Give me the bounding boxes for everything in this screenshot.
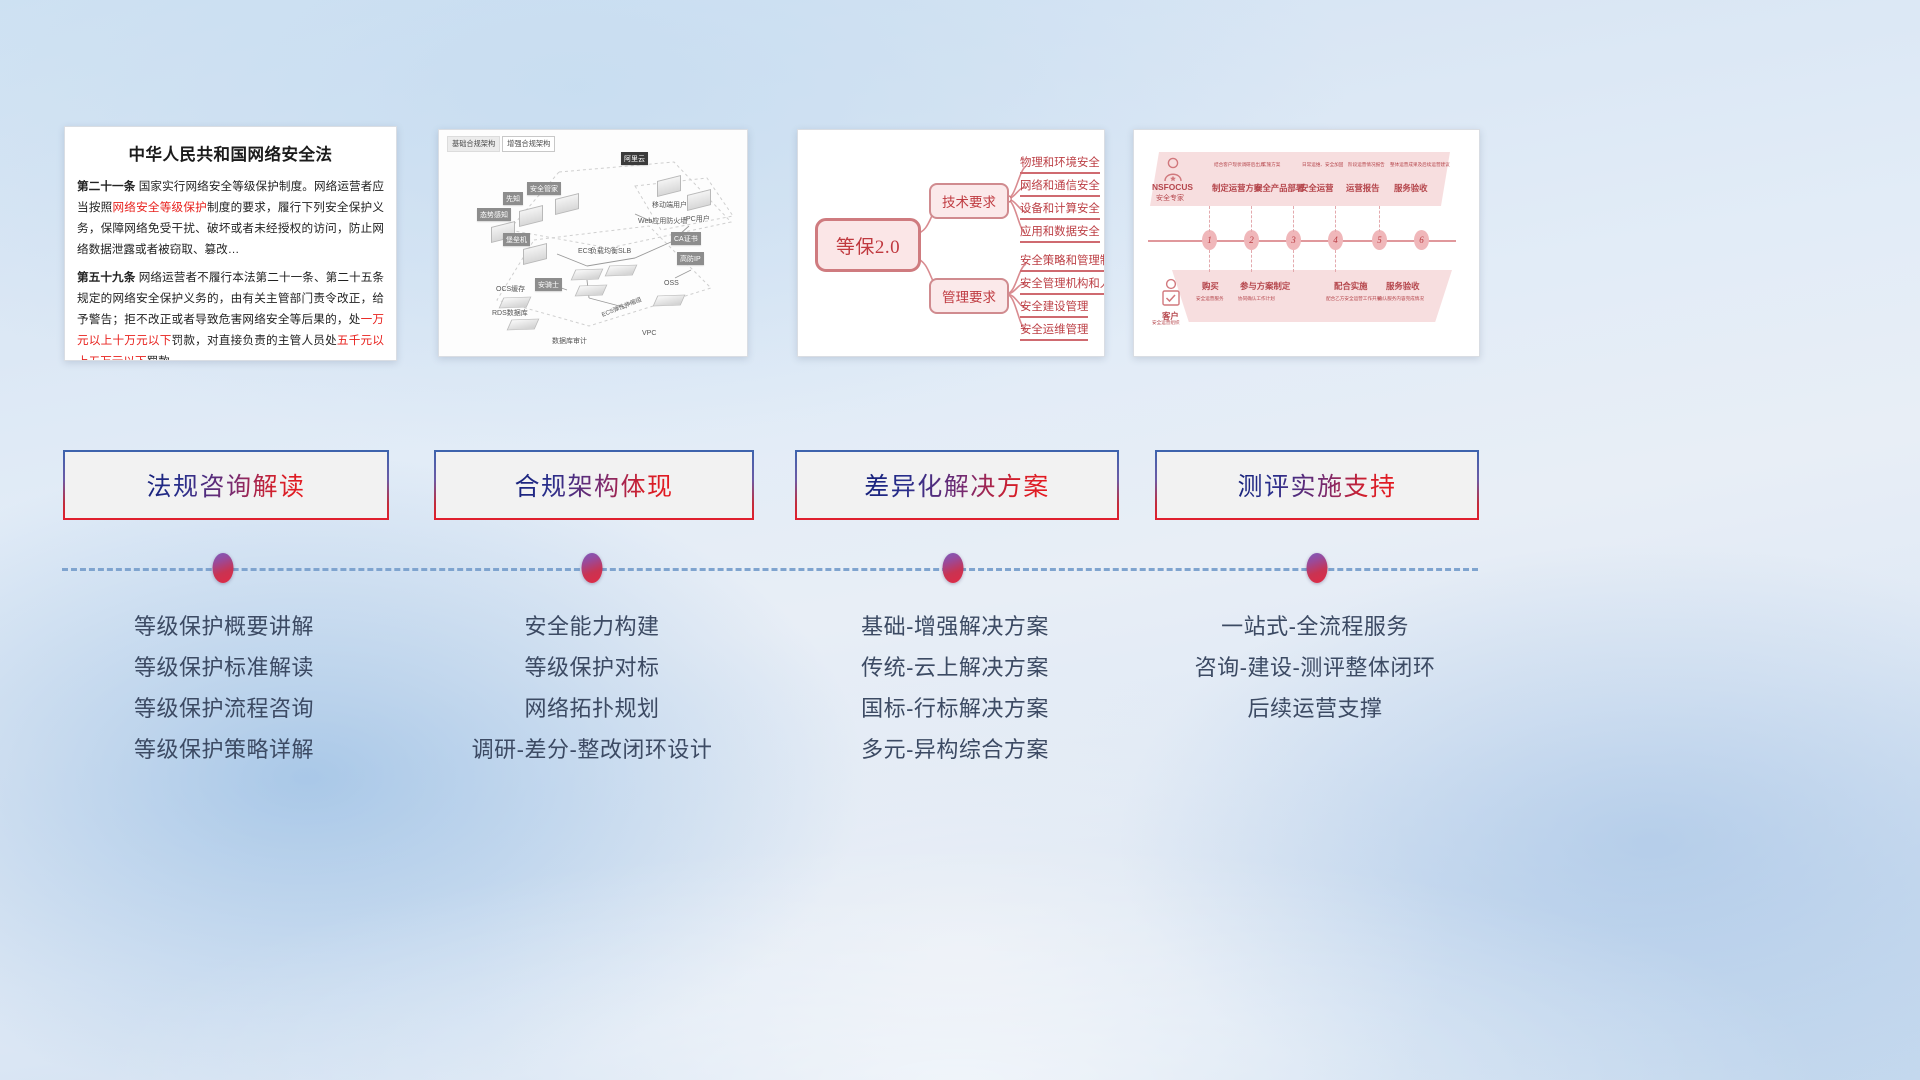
timeline <box>0 555 1920 585</box>
roadmap-top-sub-1: 结合客户现状调研后出具 <box>1214 162 1265 168</box>
roadmap-bottom-title-3: 配合实施 <box>1334 280 1368 292</box>
list-item: 等级保护概要讲解 <box>63 606 385 647</box>
slide-canvas: 中华人民共和国网络安全法 第二十一条 国家实行网络安全等级保护制度。网络运营者应… <box>0 0 1920 1080</box>
timeline-marker-4[interactable] <box>1307 553 1328 583</box>
node-label-anti-ddos-ip: 高防IP <box>677 252 704 265</box>
architecture-connectors <box>439 130 747 356</box>
section-list-4: 一站式-全流程服务 咨询-建设-测评整体闭环 后续运营支撑 <box>1155 606 1475 729</box>
roadmap-bottom-sub-3: 配合乙方安全运营工作开展 <box>1326 296 1381 302</box>
roadmap-top-title-2: 安全产品部署 <box>1254 182 1304 194</box>
thumbnail-cards-row: 中华人民共和国网络安全法 第二十一条 国家实行网络安全等级保护制度。网络运营者应… <box>0 126 1920 360</box>
list-item: 国标-行标解决方案 <box>795 688 1115 729</box>
law-article-number: 第五十九条 <box>77 271 135 284</box>
roadmap-top-title-5: 服务验收 <box>1394 182 1428 194</box>
node-label-db-audit: 数据库审计 <box>549 334 590 347</box>
list-item: 后续运营支撑 <box>1155 688 1475 729</box>
law-run: 罚款。 <box>147 355 182 361</box>
list-item: 等级保护标准解读 <box>63 647 385 688</box>
roadmap-top-title-4: 运营报告 <box>1346 182 1380 194</box>
list-item: 咨询-建设-测评整体闭环 <box>1155 647 1475 688</box>
roadmap-step-6: 6 <box>1414 230 1429 250</box>
roadmap-bottom-title-4: 服务验收 <box>1386 280 1420 292</box>
section-header-box-1[interactable]: 法规咨询解读 <box>63 450 389 520</box>
node-icon-ecs <box>571 269 604 281</box>
timeline-marker-2[interactable] <box>582 553 603 583</box>
section-header-box-4[interactable]: 测评实施支持 <box>1155 450 1479 520</box>
law-paragraph: 第五十九条 网络运营者不履行本法第二十一条、第二十五条规定的网络安全保护义务的，… <box>77 267 384 361</box>
section-header-label-3: 差异化解决方案 <box>864 467 1050 503</box>
roadmap-vendor-band <box>1150 152 1450 206</box>
list-item: 调研-差分-整改闭环设计 <box>434 729 750 770</box>
node-label-ocs-cache: OCS缓存 <box>493 282 528 295</box>
timeline-marker-1[interactable] <box>213 553 234 583</box>
law-article-number: 第二十一条 <box>77 180 135 193</box>
law-body: 第二十一条 国家实行网络安全等级保护制度。网络运营者应当按照网络安全等级保护制度… <box>65 176 396 361</box>
node-label-xianzhi: 先知 <box>503 192 523 205</box>
law-run-highlight: 网络安全等级保护 <box>112 201 207 214</box>
node-icon-slb <box>605 265 638 277</box>
section-header-label-2: 合规架构体现 <box>514 467 673 503</box>
roadmap-axis <box>1148 240 1456 242</box>
section-header-label-4: 测评实施支持 <box>1237 467 1396 503</box>
roadmap-step-5: 5 <box>1372 230 1387 250</box>
node-label-vpc: VPC <box>639 328 659 338</box>
node-label-situational-awareness: 态势感知 <box>477 208 511 221</box>
node-label-mobile-user: 移动端用户 <box>649 198 690 211</box>
list-item: 安全能力构建 <box>434 606 750 647</box>
mindmap-leaf-physical-env: 物理和环境安全 <box>1020 154 1100 174</box>
mindmap-leaf-network-comm: 网络和通信安全 <box>1020 177 1100 197</box>
timeline-dashed-line <box>62 568 1478 571</box>
roadmap-top-sub-5: 整体运营成果及后续运营建议 <box>1390 162 1450 168</box>
section-list-3: 基础-增强解决方案 传统-云上解决方案 国标-行标解决方案 多元-异构综合方案 <box>795 606 1115 770</box>
node-label-slb: 负载均衡SLB <box>587 244 634 257</box>
section-list-2: 安全能力构建 等级保护对标 网络拓扑规划 调研-差分-整改闭环设计 <box>434 606 750 770</box>
card-service-roadmap[interactable]: NSFOCUS 安全专家 客户 安全运营组织 1 2 3 4 5 6 <box>1133 129 1480 357</box>
node-icon-anqishi <box>575 285 608 297</box>
mindmap-branch-management: 管理要求 <box>929 278 1009 314</box>
section-header-box-2[interactable]: 合规架构体现 <box>434 450 754 520</box>
node-label-bastion-host: 堡垒机 <box>503 233 530 246</box>
list-item: 等级保护流程咨询 <box>63 688 385 729</box>
list-item: 网络拓扑规划 <box>434 688 750 729</box>
roadmap-bottom-sub-1: 安全运营服务 <box>1196 296 1224 302</box>
node-label-ca-cert: CA证书 <box>671 232 701 245</box>
mindmap: 等保2.0 技术要求 物理和环境安全 网络和通信安全 设备和计算安全 应用和数据… <box>798 130 1104 356</box>
roadmap-top-sub-4: 阶段运营情况报告 <box>1348 162 1385 168</box>
section-headers-row: 法规咨询解读 合规架构体现 差异化解决方案 测评实施支持 <box>0 450 1920 518</box>
mindmap-leaf-device-compute: 设备和计算安全 <box>1020 200 1100 220</box>
mindmap-leaf-policy-system: 安全策略和管理制度 <box>1020 252 1105 272</box>
mindmap-root-node: 等保2.0 <box>815 218 921 272</box>
roadmap-step-2: 2 <box>1244 230 1259 250</box>
node-label-oss: OSS <box>661 278 682 288</box>
card-cloud-architecture[interactable]: 基础合规架构 增强合规架构 <box>438 129 748 357</box>
mindmap-leaf-operations: 安全运维管理 <box>1020 321 1088 341</box>
roadmap-brand-sub: 安全专家 <box>1156 193 1184 203</box>
roadmap-top-sub-3: 日常运维、安全加固 <box>1302 162 1343 168</box>
law-paragraph: 第二十一条 国家实行网络安全等级保护制度。网络运营者应当按照网络安全等级保护制度… <box>77 176 384 260</box>
list-item: 多元-异构综合方案 <box>795 729 1115 770</box>
mindmap-leaf-construction: 安全建设管理 <box>1020 298 1088 318</box>
roadmap-top-sub-2: 实施方案 <box>1262 162 1280 168</box>
roadmap-top-title-3: 安全运营 <box>1300 182 1334 194</box>
roadmap-brand: NSFOCUS <box>1152 182 1193 192</box>
mindmap-branch-technical: 技术要求 <box>929 183 1009 219</box>
customer-icon <box>1160 278 1182 308</box>
section-list-1: 等级保护概要讲解 等级保护标准解读 等级保护流程咨询 等级保护策略详解 <box>63 606 385 770</box>
list-item: 等级保护对标 <box>434 647 750 688</box>
mindmap-leaf-app-data: 应用和数据安全 <box>1020 223 1100 243</box>
roadmap-bottom-sub-4: 确认服务内容完成情况 <box>1378 296 1424 302</box>
list-item: 基础-增强解决方案 <box>795 606 1115 647</box>
node-label-pc-user: PC用户 <box>683 212 713 225</box>
roadmap-bottom-title-2: 参与方案制定 <box>1240 280 1290 292</box>
architecture-diagram: 基础合规架构 增强合规架构 <box>439 130 747 356</box>
node-label-rds: RDS数据库 <box>489 306 531 319</box>
section-header-box-3[interactable]: 差异化解决方案 <box>795 450 1119 520</box>
roadmap-step-3: 3 <box>1286 230 1301 250</box>
node-label-waf: Web应用防火墙 <box>635 214 690 227</box>
list-item: 等级保护策略详解 <box>63 729 385 770</box>
node-icon-oss <box>653 295 686 307</box>
node-label-security-butler: 安全管家 <box>527 182 561 195</box>
card-mindmap-dengbao[interactable]: 等保2.0 技术要求 物理和环境安全 网络和通信安全 设备和计算安全 应用和数据… <box>797 129 1105 357</box>
list-item: 传统-云上解决方案 <box>795 647 1115 688</box>
mindmap-leaf-org-personnel: 安全管理机构和人员 <box>1020 275 1105 295</box>
node-label-anqishi: 安骑士 <box>535 278 562 291</box>
section-header-label-1: 法规咨询解读 <box>146 467 305 503</box>
roadmap-bottom-title-1: 购买 <box>1202 280 1219 292</box>
card-cybersecurity-law[interactable]: 中华人民共和国网络安全法 第二十一条 国家实行网络安全等级保护制度。网络运营者应… <box>64 126 397 361</box>
roadmap-bottom-sub-2: 协同确认工作计划 <box>1238 296 1275 302</box>
list-item: 一站式-全流程服务 <box>1155 606 1475 647</box>
node-icon-rds <box>507 319 540 331</box>
node-label-aliyun: 阿里云 <box>621 152 648 165</box>
roadmap-step-4: 4 <box>1328 230 1343 250</box>
law-title: 中华人民共和国网络安全法 <box>65 141 396 165</box>
timeline-marker-3[interactable] <box>943 553 964 583</box>
law-run: 罚款，对直接负责的主管人员处 <box>172 334 337 347</box>
roadmap-step-1: 1 <box>1202 230 1217 250</box>
roadmap-diagram: NSFOCUS 安全专家 客户 安全运营组织 1 2 3 4 5 6 <box>1134 130 1479 356</box>
roadmap-customer-sub: 安全运营组织 <box>1152 320 1180 326</box>
